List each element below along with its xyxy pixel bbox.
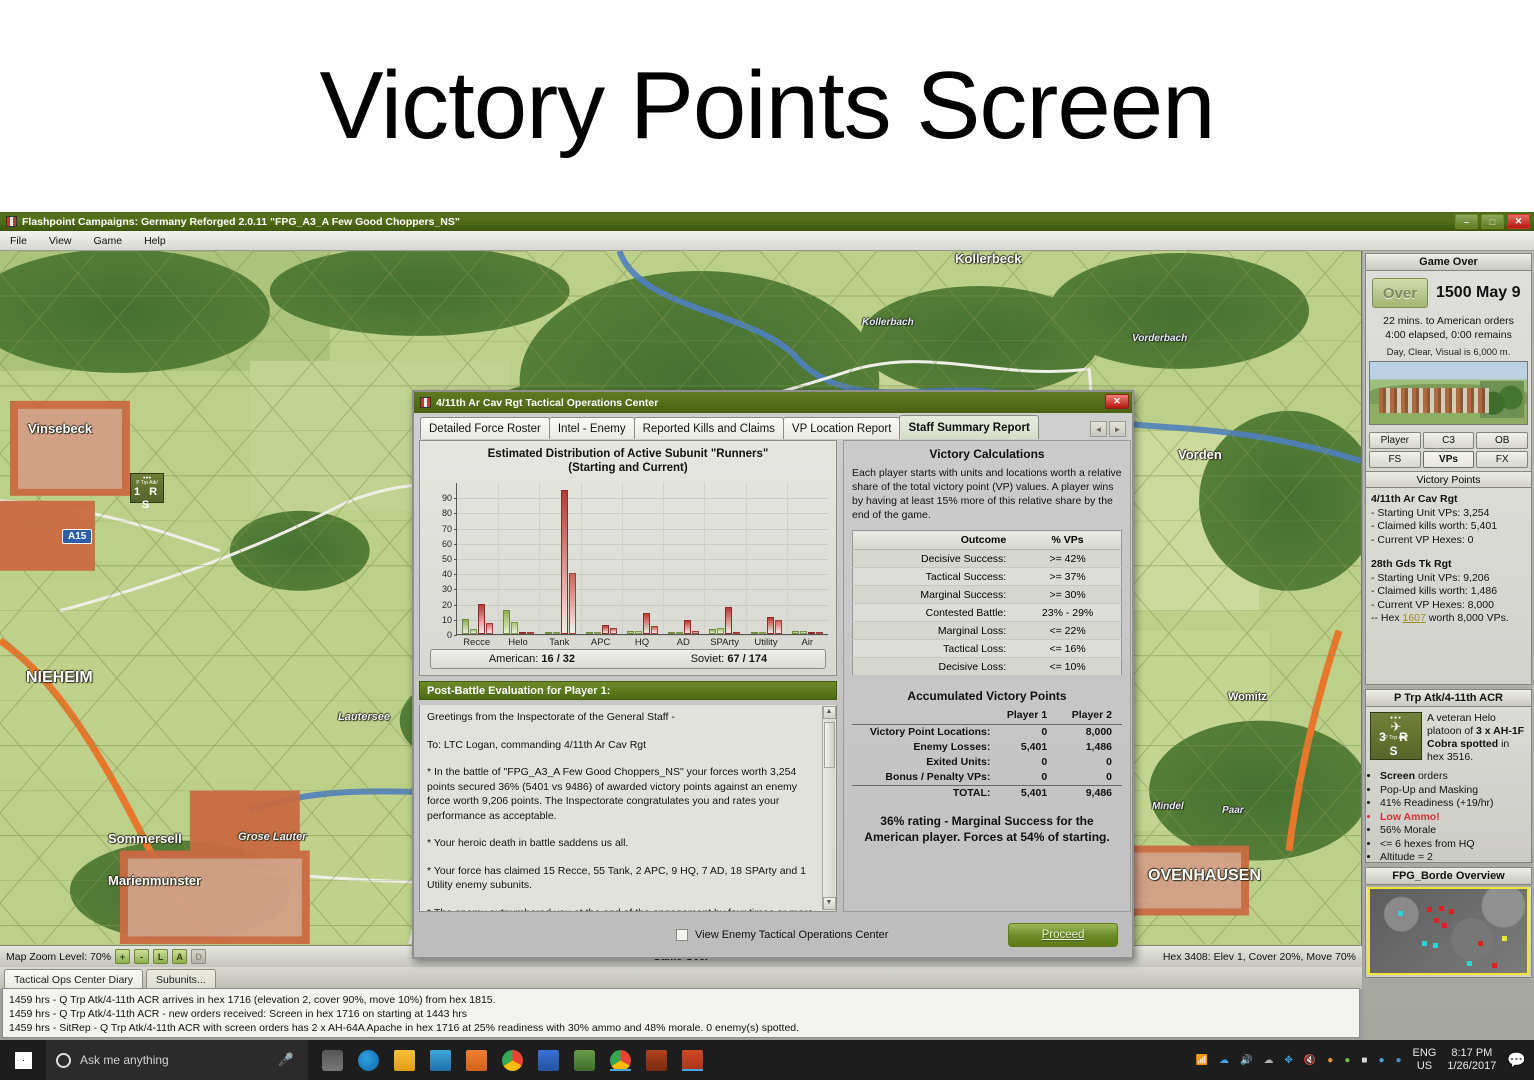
chart-bar [470,629,477,634]
american-label: American: [489,653,539,665]
system-tray: 📶 ☁ 🔊 ☁ ✥ 🔇 ● ● ■ ● ● ENG US 8:17 PM 1/2… [1196,1047,1534,1073]
task-view-icon[interactable] [322,1050,343,1071]
chart-x-tick: Tank [539,637,580,648]
tray-app-icon-1[interactable]: ● [1327,1055,1333,1066]
clock[interactable]: 8:17 PM 1/26/2017 [1447,1047,1496,1073]
proceed-label: Proceed [1042,929,1085,941]
col-vps: % VPs [1014,531,1121,550]
tab-next-button[interactable]: ► [1109,421,1126,437]
mute-icon[interactable]: 🔇 [1304,1055,1316,1066]
vp-hex-prefix: -- Hex [1371,612,1403,624]
unit-attribute-warning: Low Ammo! [1380,811,1527,825]
chart-bar [602,625,609,634]
evaluation-paragraph: Greetings from the Inspectorate of the G… [427,710,818,725]
chrome-icon-2[interactable] [610,1050,631,1071]
outcome-label: Decisive Loss: [853,658,1015,676]
menu-bar: File View Game Help [0,231,1534,251]
zoom-in-button[interactable]: + [115,949,130,964]
turn-state-button[interactable]: Over [1372,278,1428,308]
zoom-out-button[interactable]: - [134,949,149,964]
soviet-value: 67 / 174 [727,653,767,665]
chart-y-tick-mark [454,635,457,636]
view-enemy-toc-checkbox[interactable] [676,929,688,941]
close-button[interactable]: ✕ [1507,214,1530,229]
evaluation-paragraph: * Your force has claimed 15 Recce, 55 Ta… [427,864,818,893]
evaluation-scrollbar[interactable]: ▲ ▼ [822,706,835,910]
row-label: Victory Point Locations: [852,724,992,740]
map-zoom-label: Map Zoom Level: 70% [6,951,111,963]
chart-bar [751,632,758,634]
outcome-value: <= 16% [1014,640,1121,658]
chart-bar-group [457,483,498,634]
chart-bar [668,632,675,634]
chart-y-tick: 80 [442,508,452,518]
overview-header: FPG_Borde Overview [1365,867,1532,885]
vp-block-line: - Claimed kills worth: 5,401 [1371,520,1526,534]
chart-x-tick: Recce [456,637,497,648]
outcome-label: Decisive Success: [853,550,1015,568]
vp-block-title: 28th Gds Tk Rgt [1371,558,1452,570]
post-battle-evaluation-header: Post-Battle Evaluation for Player 1: [419,681,837,700]
sidebar-tab-vps[interactable]: VPs [1423,451,1475,468]
outcome-value: <= 10% [1014,658,1121,676]
dialog-tab-bar: Detailed Force Roster Intel - Enemy Repo… [414,413,1132,439]
cortana-icon [56,1053,71,1068]
evaluation-paragraph: * The enemy outnumbered you at the end o… [427,906,818,913]
unit-attribute: Pop-Up and Masking [1380,784,1527,798]
store-icon[interactable] [430,1050,451,1071]
vp-block-line: - Current VP Hexes: 0 [1371,534,1526,548]
chart-bar [684,620,691,634]
chrome-icon[interactable] [502,1050,523,1071]
table-row: Enemy Losses:5,4011,486 [852,740,1122,755]
chart-bar [800,631,807,634]
menu-item-file[interactable]: File [6,234,31,248]
chart-bar [545,632,552,634]
map-label-paar: Paar [1222,805,1244,816]
log-tab-bar: Tactical Ops Center Diary Subunits... [0,967,1362,989]
auto-toggle-button[interactable]: A [172,949,187,964]
row-p2: 8,000 [1057,724,1122,740]
victory-calculations-pane: Victory Calculations Each player starts … [843,440,1131,912]
tab-prev-button[interactable]: ◄ [1090,421,1107,437]
tab-intel-enemy[interactable]: Intel - Enemy [549,417,635,439]
chart-bar [733,632,740,634]
chart-bar-group [498,483,539,634]
dialog-title: 4/11th Ar Cav Rgt Tactical Operations Ce… [436,397,658,409]
chart-bar [816,632,823,634]
map-label-vorden: Vorden [1178,447,1222,462]
table-header-row: Outcome % VPs [853,531,1122,550]
chart-title: Estimated Distribution of Active Subunit… [426,447,830,461]
victory-points-header: Victory Points [1366,471,1531,488]
orders-countdown-line2: 4:00 elapsed, 0:00 remains [1368,328,1529,342]
unit-attribute-list[interactable]: Screen orders Pop-Up and Masking 41% Rea… [1366,766,1531,862]
dialog-titlebar: 4/11th Ar Cav Rgt Tactical Operations Ce… [414,392,1132,413]
labels-toggle-button[interactable]: L [153,949,168,964]
file-explorer-icon[interactable] [394,1050,415,1071]
row-label: Exited Units: [852,755,992,770]
col-player2: Player 2 [1057,709,1122,722]
total-row: TOTAL:5,4019,486 [852,785,1122,801]
chart-bar [792,631,799,634]
search-input[interactable]: Ask me anything 🎤 [46,1040,308,1080]
sidebar-tab-player[interactable]: Player [1369,432,1421,449]
chart-bar [709,629,716,634]
tab-vp-location-report[interactable]: VP Location Report [783,417,901,439]
proceed-button[interactable]: Proceed [1008,923,1118,947]
tab-reported-kills-and-claims[interactable]: Reported Kills and Claims [634,417,784,439]
chart-gridline [457,635,828,636]
chart-bar [569,573,576,634]
map-label-vinsebeck: Vinsebeck [28,421,92,436]
outcome-value: >= 42% [1014,550,1121,568]
unit-counter-icon[interactable]: ●●● ✈ P Trp Atk/ 3 R S [1370,712,1422,760]
chart-bar [486,623,493,634]
chart-x-tick: Air [787,637,828,648]
vp-block-line: - Claimed kills worth: 1,486 [1371,585,1526,599]
map-unit-counter-stats: 1 R S [131,486,163,512]
victory-calculations-header: Victory Calculations [852,447,1122,461]
log-message-list[interactable]: 1459 hrs - Q Trp Atk/4-11th ACR arrives … [2,988,1360,1038]
chart-bar [635,631,642,634]
map-unit-counter[interactable]: ●●● P Trp Atk/ 1 R S [130,473,164,503]
chart-y-tick: 20 [442,600,452,610]
overview-panel: FPG_Borde Overview [1365,867,1532,978]
menu-item-help[interactable]: Help [140,234,170,248]
view-enemy-toc-checkbox-row[interactable]: View Enemy Tactical Operations Center [676,929,888,941]
start-button[interactable] [0,1040,46,1080]
sidebar-tab-fs[interactable]: FS [1369,451,1421,468]
clock-time: 8:17 PM [1447,1047,1496,1060]
log-line: 1459 hrs - Q Trp Atk/4-11th ACR - new or… [9,1007,1353,1021]
chart-bar [503,610,510,634]
chart-bar [561,490,568,634]
chart-bar [511,622,518,634]
terrain-photo [1369,361,1528,425]
vp-hex-line: -- Hex 1607 worth 8,000 VPs. [1371,612,1526,626]
total-label: TOTAL: [852,785,992,801]
outcome-label: Marginal Success: [853,586,1015,604]
tray-app-icon-3[interactable]: ■ [1361,1055,1367,1066]
map-label-mindel: Mindel [1152,801,1184,812]
chart-bar [610,628,617,634]
map-label-womitz: Womitz [1228,691,1267,703]
flashpoint-game-icon[interactable] [646,1050,667,1071]
map-label-vorderbach: Vorderbach [1132,333,1187,344]
chart-y-tick: 70 [442,524,452,534]
chart-bar-group [581,483,622,634]
chart-bar [759,632,766,634]
view-enemy-toc-label: View Enemy Tactical Operations Center [695,929,888,941]
rating-summary: 36% rating - Marginal Success for the Am… [852,813,1122,845]
table-row: Exited Units:00 [852,755,1122,770]
action-center-icon[interactable]: 💬 [1507,1051,1526,1069]
table-row: Decisive Loss:<= 10% [853,658,1122,676]
vp-block-line: - Current VP Hexes: 8,000 [1371,599,1526,613]
accumulated-vp-header: Accumulated Victory Points [852,689,1122,703]
unit-description: A veteran Helo platoon of 3 x AH-1F Cobr… [1427,712,1527,764]
orders-countdown-line1: 22 mins. to American orders [1368,314,1529,328]
chart-bars [457,483,828,634]
vp-block-line: - Starting Unit VPs: 9,206 [1371,572,1526,586]
evaluation-paragraph: * In the battle of "FPG_A3_A Few Good Ch… [427,765,818,823]
menu-item-game[interactable]: Game [90,234,127,248]
vp-hex-link[interactable]: 1607 [1403,612,1426,624]
map-label-sommersell: Sommersell [108,831,182,846]
search-placeholder: Ask me anything [80,1053,169,1067]
map-label-kollerbeck: Kollerbeck [955,251,1021,266]
chart-bar [808,632,815,634]
game-over-header: Game Over [1365,253,1532,271]
chart-bar [519,632,526,634]
dialog-icon [420,397,431,408]
outcome-label: Contested Battle: [853,604,1015,622]
log-line: 1459 hrs - SitRep - Q Trp Atk/4-11th ACR… [9,1021,1353,1035]
scroll-up-icon[interactable]: ▲ [823,706,836,719]
chart-bar [725,607,732,634]
table-row: Marginal Loss:<= 22% [853,622,1122,640]
tray-app-icon-4[interactable]: ● [1378,1055,1384,1066]
map-label-marienmunster: Marienmunster [108,873,201,888]
right-sidebar: Game Over Over 1500 May 9 22 mins. to Am… [1363,251,1534,1040]
outcome-value: <= 22% [1014,622,1121,640]
tray-app-icon-2[interactable]: ● [1344,1055,1350,1066]
american-score: American: 16 / 32 [489,653,575,665]
row-p2: 0 [1057,755,1122,770]
outcome-value: 23% - 29% [1014,604,1121,622]
map-label-lautersee: Lautersee [338,711,390,723]
tactical-operations-center-dialog: 4/11th Ar Cav Rgt Tactical Operations Ce… [412,390,1134,959]
maximize-button[interactable]: □ [1481,214,1504,229]
chart-x-tick: Utility [745,637,786,648]
sidebar-tab-fx[interactable]: FX [1476,451,1528,468]
selected-unit-panel: P Trp Atk/4-11th ACR ●●● ✈ P Trp Atk/ 3 … [1365,689,1532,863]
outcome-value: >= 37% [1014,568,1121,586]
chart-bar [586,632,593,634]
tab-nav-arrows: ◄ ► [1090,421,1126,437]
chart-bar [775,620,782,634]
table-row: Contested Battle:23% - 29% [853,604,1122,622]
chart-bar [676,632,683,634]
outcome-value: >= 30% [1014,586,1121,604]
powerpoint-icon[interactable] [682,1050,703,1071]
unit-attribute: <= 6 hexes from HQ [1380,838,1527,852]
evaluation-paragraph: * Your heroic death in battle saddens us… [427,836,818,851]
tray-app-icon-5[interactable]: ● [1395,1055,1401,1066]
chart-bar [527,632,534,634]
page-title: Victory Points Screen [0,0,1534,212]
chart-y-tick: 30 [442,584,452,594]
app-icon [6,216,17,227]
chart-x-tick: AD [663,637,704,648]
windows-logo-icon [15,1052,32,1069]
chart-bar [462,619,469,634]
chart-y-tick: 40 [442,569,452,579]
game-status-panel: Over 1500 May 9 22 mins. to American ord… [1365,271,1532,685]
road-shield-a15: A15 [62,529,92,544]
chart-bar-group [622,483,663,634]
soviet-score: Soviet: 67 / 174 [691,653,767,665]
microphone-icon[interactable]: 🎤 [278,1052,294,1068]
table-row: Marginal Success:>= 30% [853,586,1122,604]
chart-bar [627,631,634,634]
row-p1: 5,401 [992,740,1057,755]
chart-x-tick: Helo [497,637,538,648]
chart-bar [478,604,485,634]
runners-distribution-chart: Estimated Distribution of Active Subunit… [419,440,837,676]
wifi-icon[interactable]: 📶 [1196,1055,1208,1066]
office-icon[interactable] [466,1050,487,1071]
windows-taskbar: Ask me anything 🎤 📶 ☁ 🔊 ☁ ✥ 🔇 ● ● ■ ● ● … [0,1040,1534,1080]
vp-hex-suffix: worth 8,000 VPs. [1426,612,1509,624]
chart-y-tick: 90 [442,493,452,503]
volume-icon[interactable]: 🔊 [1240,1055,1252,1066]
chart-y-tick: 60 [442,539,452,549]
chart-bar [594,632,601,634]
total-p1: 5,401 [992,785,1057,801]
chart-x-tick: HQ [621,637,662,648]
map-label-grose-lauter: Grose Lauter [238,831,306,843]
row-p2: 1,486 [1057,740,1122,755]
language-code: ENG [1413,1047,1437,1060]
table-row: Tactical Loss:<= 16% [853,640,1122,658]
outcome-label: Tactical Loss: [853,640,1015,658]
menu-item-view[interactable]: View [45,234,76,248]
sidebar-tab-c3[interactable]: C3 [1423,432,1475,449]
outcome-label: Tactical Success: [853,568,1015,586]
dialog-close-button[interactable]: ✕ [1105,394,1129,409]
total-p2: 9,486 [1057,785,1122,801]
onedrive-icon[interactable]: ☁ [1219,1055,1229,1066]
window-titlebar: Flashpoint Campaigns: Germany Reforged 2… [0,212,1534,231]
game-clock: 1500 May 9 [1436,284,1521,302]
map-label-ovenhausen: OVENHAUSEN [1148,867,1261,885]
chart-bar-group [539,483,580,634]
cloud-icon[interactable]: ☁ [1263,1055,1273,1066]
window-controls: – □ ✕ [1455,214,1530,229]
outcome-table: Outcome % VPs Decisive Success:>= 42% Ta… [852,530,1122,676]
vp-block-title: 4/11th Ar Cav Rgt [1371,493,1458,505]
chart-bar-group [704,483,745,634]
row-p1: 0 [992,755,1057,770]
chart-x-tick: APC [580,637,621,648]
language-indicator[interactable]: ENG US [1413,1047,1437,1073]
vp-block-line: - Starting Unit VPs: 3,254 [1371,507,1526,521]
chart-y-tick: 10 [442,615,452,625]
chart-bar [717,628,724,634]
tab-tactical-ops-center-diary[interactable]: Tactical Ops Center Diary [4,969,143,989]
scrollbar-thumb[interactable] [824,722,835,768]
victory-points-body: 4/11th Ar Cav Rgt - Starting Unit VPs: 3… [1366,488,1531,684]
unit-attribute: Altitude = 2 [1380,851,1527,862]
col-outcome: Outcome [853,531,1015,550]
minimize-button[interactable]: – [1455,214,1478,229]
window-title: Flashpoint Campaigns: Germany Reforged 2… [22,216,460,228]
chart-bar [651,626,658,634]
chart-x-axis-labels: RecceHeloTankAPCHQADSPArtyUtilityAir [456,637,828,648]
chart-y-tick: 50 [442,554,452,564]
row-p2: 0 [1057,770,1122,786]
table-header-row: Player 1 Player 2 [852,709,1122,722]
col-player1: Player 1 [992,709,1057,722]
dialog-footer: View Enemy Tactical Operations Center Pr… [414,913,1132,957]
table-row: Bonus / Penalty VPs:00 [852,770,1122,786]
edge-icon[interactable] [358,1050,379,1071]
table-row: Decisive Success:>= 42% [853,550,1122,568]
region-code: US [1413,1060,1437,1073]
outcome-label: Marginal Loss: [853,622,1015,640]
american-value: 16 / 32 [541,653,575,665]
log-line: 1459 hrs - Q Trp Atk/4-11th ACR arrives … [9,993,1353,1007]
clock-date: 1/26/2017 [1447,1060,1496,1073]
unit-panel-header: P Trp Atk/4-11th ACR [1365,689,1532,707]
weather-status: Day, Clear, Visual is 6,000 m. [1366,347,1531,361]
bluetooth-icon[interactable]: ✥ [1284,1055,1292,1066]
map-label-kollerbach: Kollerbach [862,317,914,328]
unit-attr-order-rest: orders [1415,770,1448,782]
force-score-bar: American: 16 / 32 Soviet: 67 / 174 [430,649,826,669]
evaluation-paragraph: To: LTC Logan, commanding 4/11th Ar Cav … [427,738,818,753]
post-battle-evaluation-body[interactable]: Greetings from the Inspectorate of the G… [419,705,837,912]
chart-bar [643,613,650,634]
chart-x-tick: SPArty [704,637,745,648]
tab-staff-summary-report[interactable]: Staff Summary Report [899,415,1038,439]
hex-info-status: Hex 3408: Elev 1, Cover 20%, Move 70% [1163,951,1356,963]
row-label: Bonus / Penalty VPs: [852,770,992,786]
chart-bar [553,632,560,634]
unit-attribute: 56% Morale [1380,824,1527,838]
sidebar-tab-buttons: Player C3 OB FS VPs FX [1366,429,1531,471]
chart-bar-group [663,483,704,634]
detail-toggle-button[interactable]: D [191,949,206,964]
minimap[interactable] [1368,887,1529,975]
media-player-icon[interactable] [574,1050,595,1071]
unit-counter-stats: 3 R S [1371,730,1421,758]
word-icon[interactable] [538,1050,559,1071]
application-window: Flashpoint Campaigns: Germany Reforged 2… [0,212,1534,1040]
tab-detailed-force-roster[interactable]: Detailed Force Roster [420,417,550,439]
victory-calculations-intro: Each player starts with units and locati… [852,466,1122,522]
chart-bar [692,631,699,634]
chart-bar [767,617,774,634]
chart-bar-group [787,483,828,634]
row-label: Enemy Losses: [852,740,992,755]
table-row: Victory Point Locations:08,000 [852,724,1122,740]
chart-y-tick: 0 [447,630,452,640]
chart-bar-group [746,483,787,634]
chart-plot-area: 0102030405060708090 [456,483,828,635]
accumulated-vp-table: Player 1 Player 2 Victory Point Location… [852,709,1122,801]
unit-attr-order: Screen [1380,770,1415,782]
tab-subunits[interactable]: Subunits... [146,969,216,989]
row-p1: 0 [992,770,1057,786]
unit-attribute: 41% Readiness (+19/hr) [1380,797,1527,811]
table-row: Tactical Success:>= 37% [853,568,1122,586]
soviet-label: Soviet: [691,653,725,665]
row-p1: 0 [992,724,1057,740]
chart-subtitle: (Starting and Current) [426,461,830,475]
map-label-nieheim: NIEHEIM [26,669,93,687]
scroll-down-icon[interactable]: ▼ [823,897,836,910]
unit-attribute: Screen orders [1380,770,1527,784]
sidebar-tab-ob[interactable]: OB [1476,432,1528,449]
taskbar-app-icons [308,1050,703,1071]
